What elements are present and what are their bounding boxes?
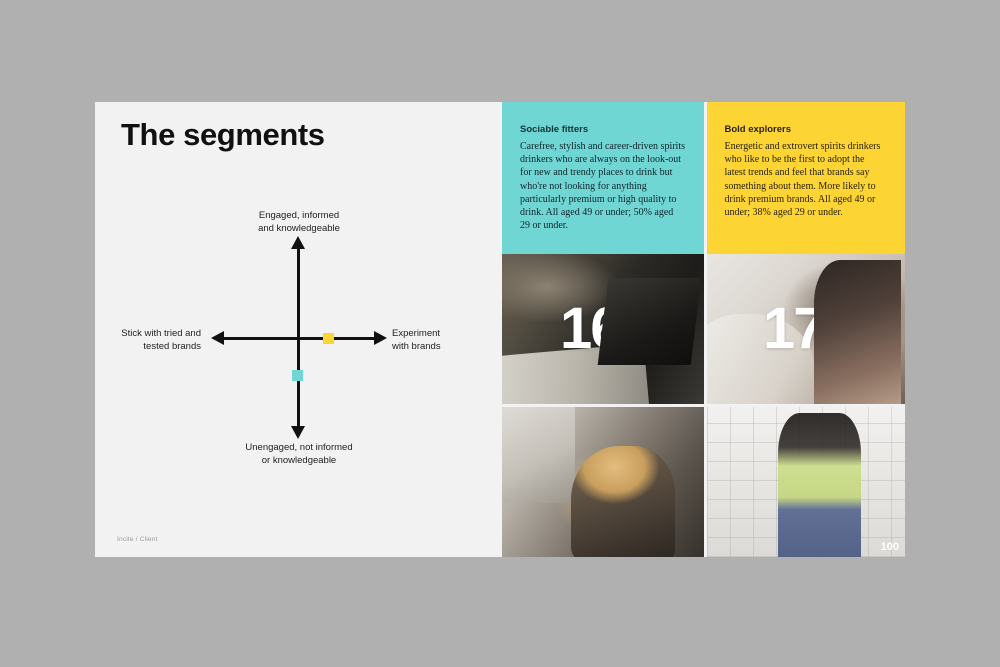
axis-label-top-line1: Engaged, informed [225, 210, 373, 223]
axis-label-left-line2: tested brands [101, 341, 201, 354]
axis-label-top: Engaged, informed and knowledgeable [225, 210, 373, 236]
segment-column-bold-explorers: Bold explorers Energetic and extrovert s… [704, 102, 906, 557]
arrow-down-icon [291, 426, 305, 439]
segment-card-bold-explorers: Bold explorers Energetic and extrovert s… [704, 102, 906, 254]
stat-value: 17 [763, 300, 824, 358]
segment-description: Energetic and extrovert spirits drinkers… [725, 140, 888, 219]
axis-label-right-line2: with brands [392, 341, 492, 354]
segment-photo-bottom [502, 404, 704, 557]
segment-card-sociable-fitters: Sociable fitters Carefree, stylish and c… [502, 102, 704, 254]
stat-percentage-sociable-fitters: 16 % [560, 300, 646, 358]
axis-label-left-line1: Stick with tried and [101, 328, 201, 341]
segment-photo-top: 17 % [704, 254, 906, 404]
percent-symbol: % [623, 314, 646, 341]
page-title: The segments [121, 118, 325, 152]
arrow-up-icon [291, 236, 305, 249]
slide-footer: Incite / Client [117, 536, 158, 543]
arrow-right-icon [374, 331, 387, 345]
axis-label-bottom: Unengaged, not informed or knowledgeable [223, 442, 375, 468]
arrow-left-icon [211, 331, 224, 345]
axis-label-left: Stick with tried and tested brands [101, 328, 201, 354]
stat-value: 16 [560, 300, 621, 358]
segment-title: Sociable fitters [520, 124, 686, 135]
corner-number-label: 100 [881, 541, 899, 553]
stat-percentage-bold-explorers: 17 % [763, 300, 849, 358]
segment-photo-top: 16 % [502, 254, 704, 404]
segment-column-sociable-fitters: Sociable fitters Carefree, stylish and c… [502, 102, 704, 557]
axis-label-bottom-line2: or knowledgeable [223, 455, 375, 468]
segment-description: Carefree, stylish and career-driven spir… [520, 140, 686, 232]
presentation-slide: The segments Engaged, informed and knowl… [95, 102, 905, 557]
horizontal-axis-line [223, 337, 375, 340]
left-panel: The segments Engaged, informed and knowl… [95, 102, 502, 557]
axis-label-right: Experiment with brands [392, 328, 492, 354]
percent-symbol: % [826, 314, 849, 341]
segment-title: Bold explorers [725, 124, 888, 135]
quadrant-chart: Engaged, informed and knowledgeable Unen… [95, 210, 502, 470]
segment-columns: Sociable fitters Carefree, stylish and c… [502, 102, 905, 557]
data-point-bold-explorers [323, 333, 334, 344]
axis-label-right-line1: Experiment [392, 328, 492, 341]
segment-photo-bottom: 100 [704, 404, 906, 557]
data-point-sociable-fitters [292, 370, 303, 381]
axis-label-bottom-line1: Unengaged, not informed [223, 442, 375, 455]
axis-label-top-line2: and knowledgeable [225, 223, 373, 236]
